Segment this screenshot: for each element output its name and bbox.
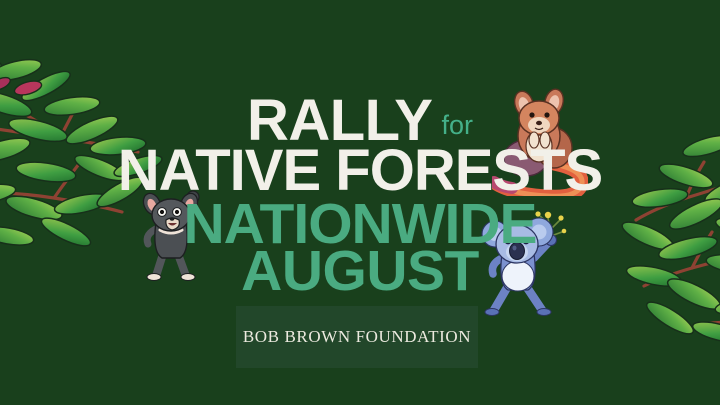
headline-line-august: AUGUST	[0, 243, 720, 300]
headline-august-text: AUGUST	[241, 239, 479, 303]
organisation-name: BOB BROWN FOUNDATION	[243, 327, 471, 347]
foundation-plaque: BOB BROWN FOUNDATION	[236, 306, 478, 368]
headline-for-text: for	[441, 110, 473, 140]
rally-poster: RALLYfor NATIVE FORESTS NATIONWIDE AUGUS…	[0, 0, 720, 405]
